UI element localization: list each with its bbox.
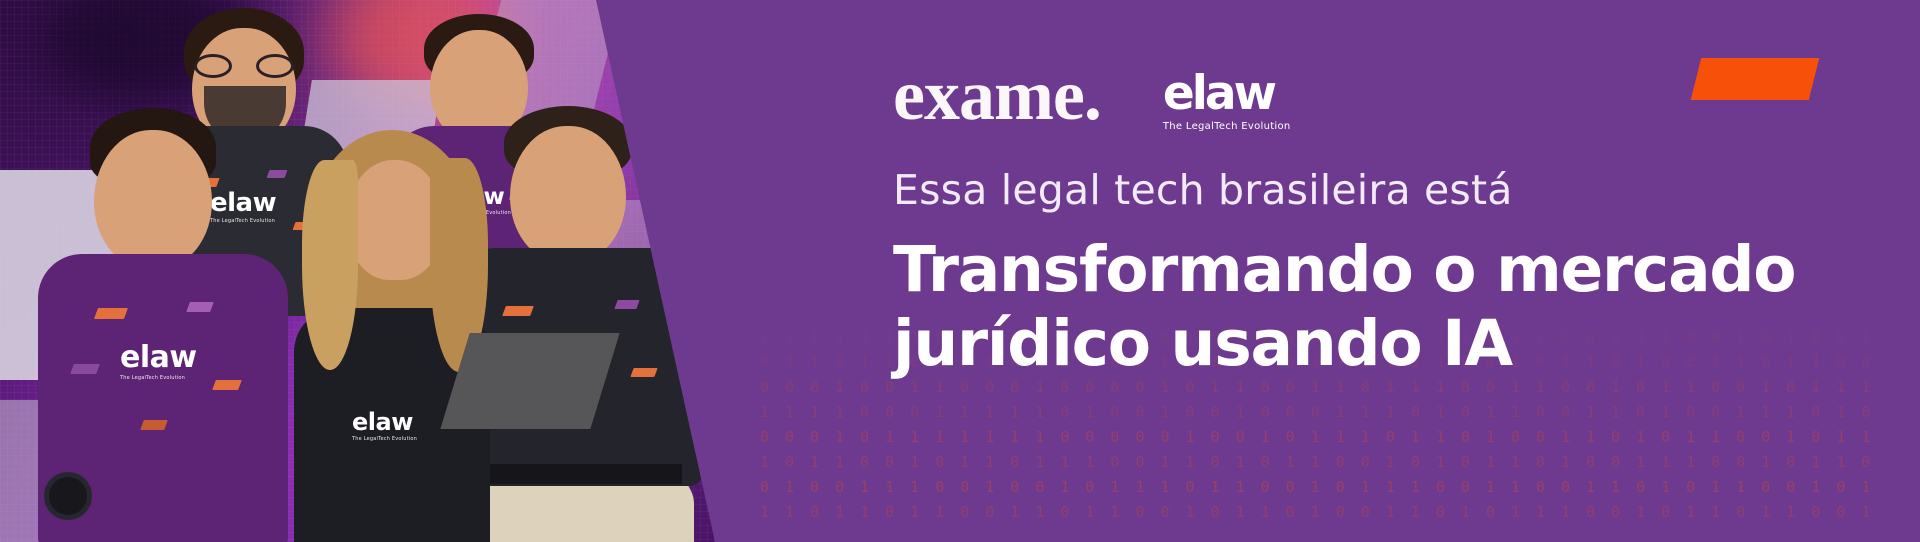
headline-line-2: jurídico usando IA xyxy=(893,307,1893,381)
logo-row: exame. elaw The LegalTech Evolution xyxy=(893,62,1291,150)
belt xyxy=(486,464,682,484)
content-column: exame. elaw The LegalTech Evolution Essa… xyxy=(893,0,1920,542)
elaw-wordmark: elaw xyxy=(1163,70,1291,117)
shirt-logo: elaw The LegalTech Evolution xyxy=(352,408,417,442)
elaw-logo[interactable]: elaw The LegalTech Evolution xyxy=(1163,62,1291,132)
grey-parallelogram-accent xyxy=(440,333,619,429)
shirt-logo: elaw The LegalTech Evolution xyxy=(120,340,197,381)
headline-block: Essa legal tech brasileira está Transfor… xyxy=(893,168,1893,381)
team-photo: elaw The LegalTech Evolution elaw The Le… xyxy=(0,0,715,542)
hair-strand xyxy=(302,160,358,370)
person-front-left: elaw The LegalTech Evolution xyxy=(38,108,288,542)
glasses-icon xyxy=(192,54,296,78)
elaw-tagline: The LegalTech Evolution xyxy=(1163,121,1291,132)
exame-logo[interactable]: exame. xyxy=(893,62,1101,128)
exame-elaw-banner: elaw The LegalTech Evolution elaw The Le… xyxy=(0,0,1920,542)
headline-line-1: Transformando o mercado xyxy=(893,233,1893,307)
headline-kicker: Essa legal tech brasileira está xyxy=(893,168,1893,213)
person-centre: elaw The LegalTech Evolution xyxy=(288,130,496,542)
wristwatch xyxy=(44,472,92,520)
face xyxy=(510,126,626,262)
face xyxy=(94,130,212,268)
